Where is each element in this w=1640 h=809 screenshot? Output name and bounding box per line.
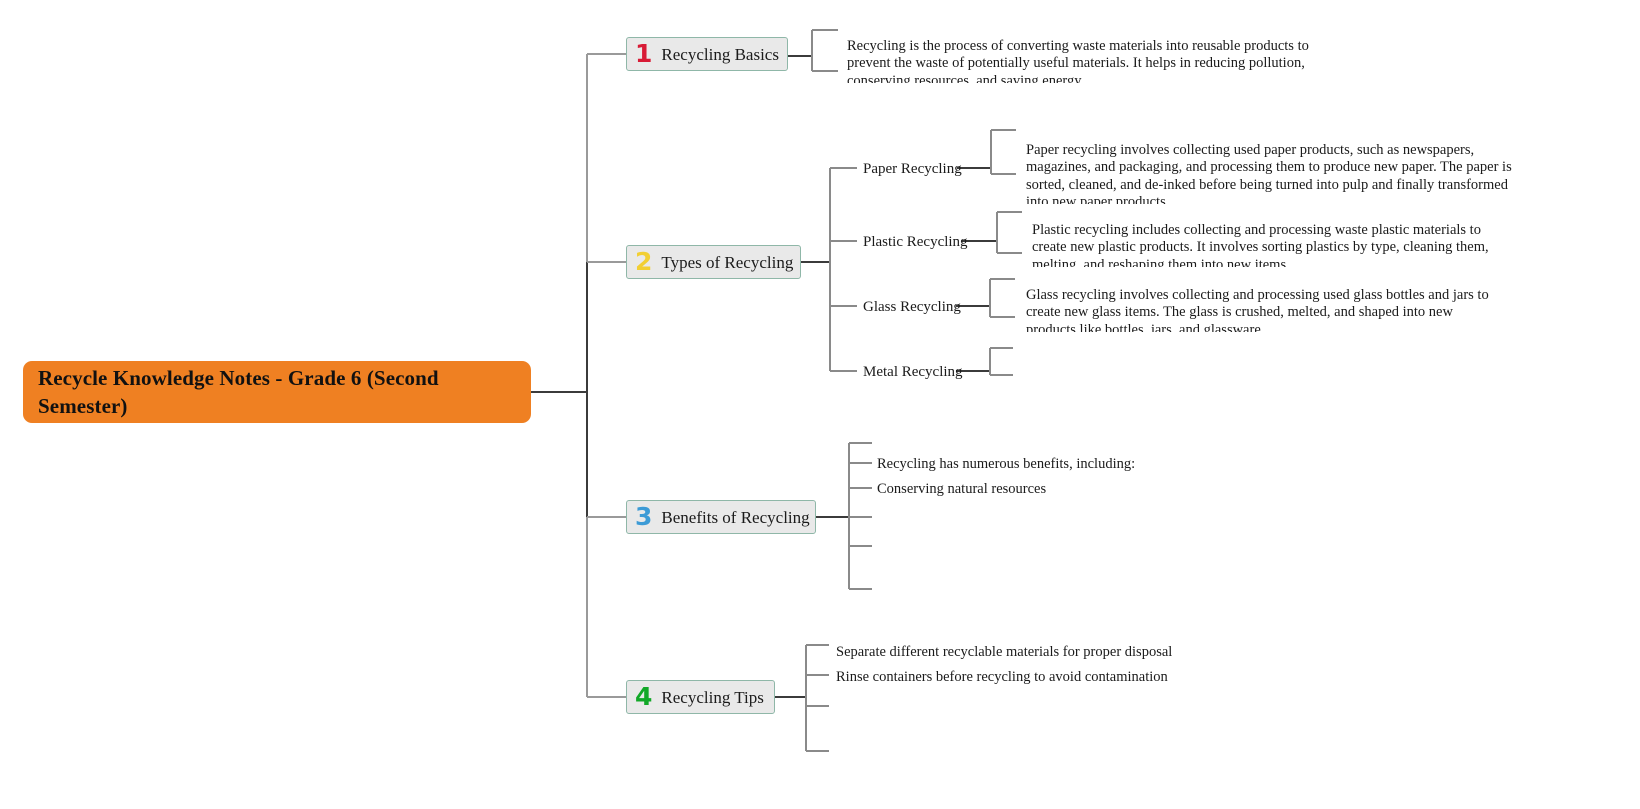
sub-node-glass-recycling[interactable]: Glass Recycling [863,300,961,315]
branch-number-2: 2 [635,249,652,274]
branch-node-recycling-basics[interactable]: 1 Recycling Basics [626,37,788,71]
branch-label-2: Types of Recycling [661,254,793,271]
root-title: Recycle Knowledge Notes - Grade 6 (Secon… [38,364,517,420]
note-glass-recycling: Glass recycling involves collecting and … [1026,287,1506,332]
mindmap-canvas: Recycle Knowledge Notes - Grade 6 (Secon… [0,0,1640,809]
sub-node-plastic-recycling[interactable]: Plastic Recycling [863,235,968,250]
branch-label-1: Recycling Basics [661,46,779,63]
branch-number-3: 3 [635,504,652,529]
branch-label-3: Benefits of Recycling [661,509,809,526]
root-node[interactable]: Recycle Knowledge Notes - Grade 6 (Secon… [23,361,531,423]
branch-node-benefits-of-recycling[interactable]: 3 Benefits of Recycling [626,500,816,534]
branch-label-4: Recycling Tips [661,689,764,706]
bullet-tips-1[interactable]: Separate different recyclable materials … [836,645,1172,660]
branch-node-recycling-tips[interactable]: 4 Recycling Tips [626,680,775,714]
note-recycling-basics: Recycling is the process of converting w… [847,38,1333,83]
branch-node-types-of-recycling[interactable]: 2 Types of Recycling [626,245,801,279]
note-plastic-recycling: Plastic recycling includes collecting an… [1032,222,1518,267]
branch-number-1: 1 [635,41,652,66]
note-paper-recycling: Paper recycling involves collecting used… [1026,142,1512,204]
bullet-benefits-1[interactable]: Recycling has numerous benefits, includi… [877,457,1135,472]
branch-number-4: 4 [635,684,652,709]
bullet-tips-2[interactable]: Rinse containers before recycling to avo… [836,670,1168,685]
sub-node-paper-recycling[interactable]: Paper Recycling [863,162,962,177]
bullet-benefits-2[interactable]: Conserving natural resources [877,482,1046,497]
sub-node-metal-recycling[interactable]: Metal Recycling [863,365,963,380]
